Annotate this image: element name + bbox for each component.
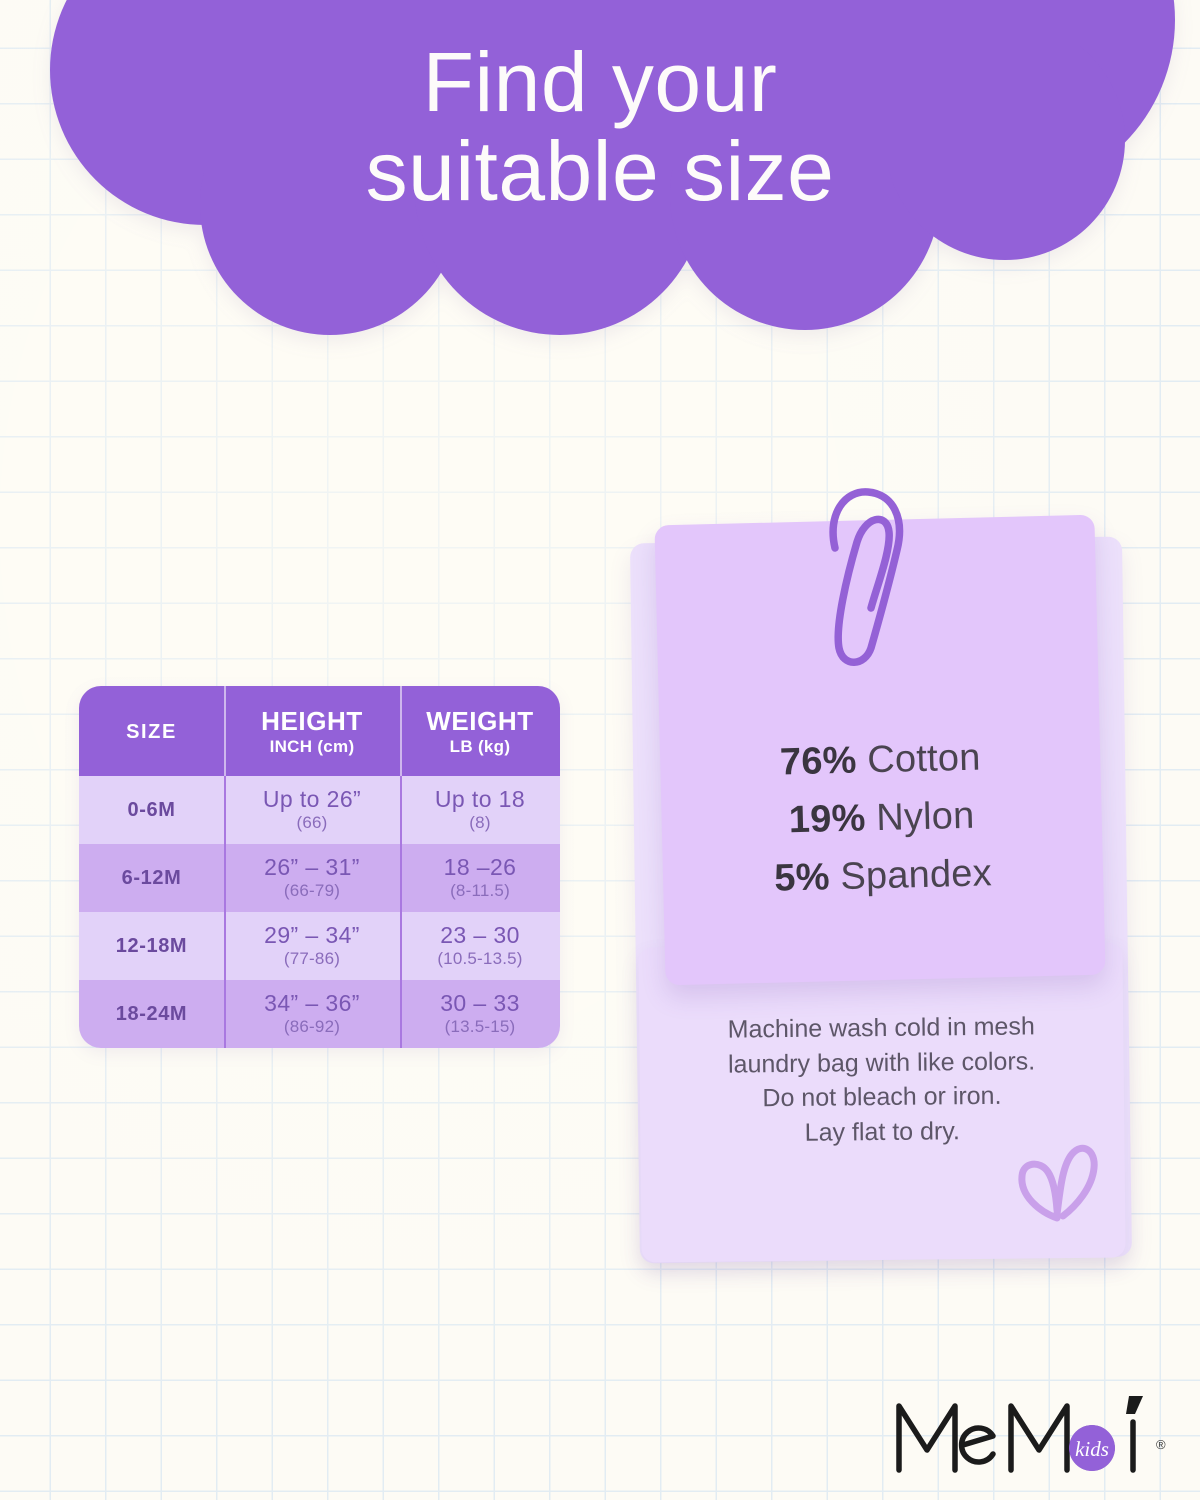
svg-text:kids: kids [1075, 1437, 1109, 1461]
cell-size: 12-18M [79, 912, 224, 980]
page-title-line2: suitable size [0, 127, 1200, 216]
notes-group: Machine wash cold in mesh laundry bag wi… [610, 480, 1150, 1290]
fabric-line: 19% Nylon [661, 784, 1102, 852]
cell-height: 26” – 31” (66-79) [224, 844, 400, 912]
cell-weight: 23 – 30 (10.5-13.5) [400, 912, 560, 980]
fabric-percent: 5% [774, 856, 830, 899]
fabric-percent: 76% [779, 740, 857, 784]
fabric-line: 5% Spandex [662, 842, 1103, 910]
table-row: 18-24M 34” – 36” (86-92) 30 – 33 (13.5-1… [79, 980, 560, 1048]
care-instructions-text: Machine wash cold in mesh laundry bag wi… [639, 1008, 1124, 1151]
column-header-weight: WEIGHT LB (kg) [400, 686, 560, 776]
registered-trademark-symbol: ® [1156, 1437, 1166, 1452]
column-header-size: SIZE [79, 686, 224, 776]
table-row: 6-12M 26” – 31” (66-79) 18 –26 (8-11.5) [79, 844, 560, 912]
cell-weight: 18 –26 (8-11.5) [400, 844, 560, 912]
fabric-material: Spandex [829, 852, 992, 898]
cell-height: Up to 26” (66) [224, 776, 400, 844]
care-line: laundry bag with like colors. [639, 1043, 1123, 1083]
memoi-kids-logo: kids [893, 1392, 1153, 1477]
fabric-composition-text: 76% Cotton 19% Nylon 5% Spandex [660, 727, 1104, 911]
fabric-material: Nylon [865, 794, 975, 839]
heart-doodle-icon [1010, 1140, 1105, 1232]
cell-height: 34” – 36” (86-92) [224, 980, 400, 1048]
fabric-material: Cotton [856, 737, 981, 782]
care-line: Do not bleach or iron. [640, 1077, 1124, 1117]
fabric-line: 76% Cotton [660, 727, 1101, 795]
fabric-percent: 19% [788, 797, 866, 841]
table-row: 0-6M Up to 26” (66) Up to 18 (8) [79, 776, 560, 844]
table-header-row: SIZE HEIGHT INCH (cm) WEIGHT LB (kg) [79, 686, 560, 776]
cell-weight: Up to 18 (8) [400, 776, 560, 844]
table-row: 12-18M 29” – 34” (77-86) 23 – 30 (10.5-1… [79, 912, 560, 980]
cell-weight: 30 – 33 (13.5-15) [400, 980, 560, 1048]
column-header-height: HEIGHT INCH (cm) [224, 686, 400, 776]
cell-size: 0-6M [79, 776, 224, 844]
page-title: Find your suitable size [0, 38, 1200, 216]
cell-size: 6-12M [79, 844, 224, 912]
size-chart-table: SIZE HEIGHT INCH (cm) WEIGHT LB (kg) 0-6… [79, 686, 560, 1048]
cell-height: 29” – 34” (77-86) [224, 912, 400, 980]
page-title-line1: Find your [423, 35, 778, 129]
paperclip-icon [813, 480, 923, 670]
cell-size: 18-24M [79, 980, 224, 1048]
care-line: Machine wash cold in mesh [639, 1008, 1123, 1048]
